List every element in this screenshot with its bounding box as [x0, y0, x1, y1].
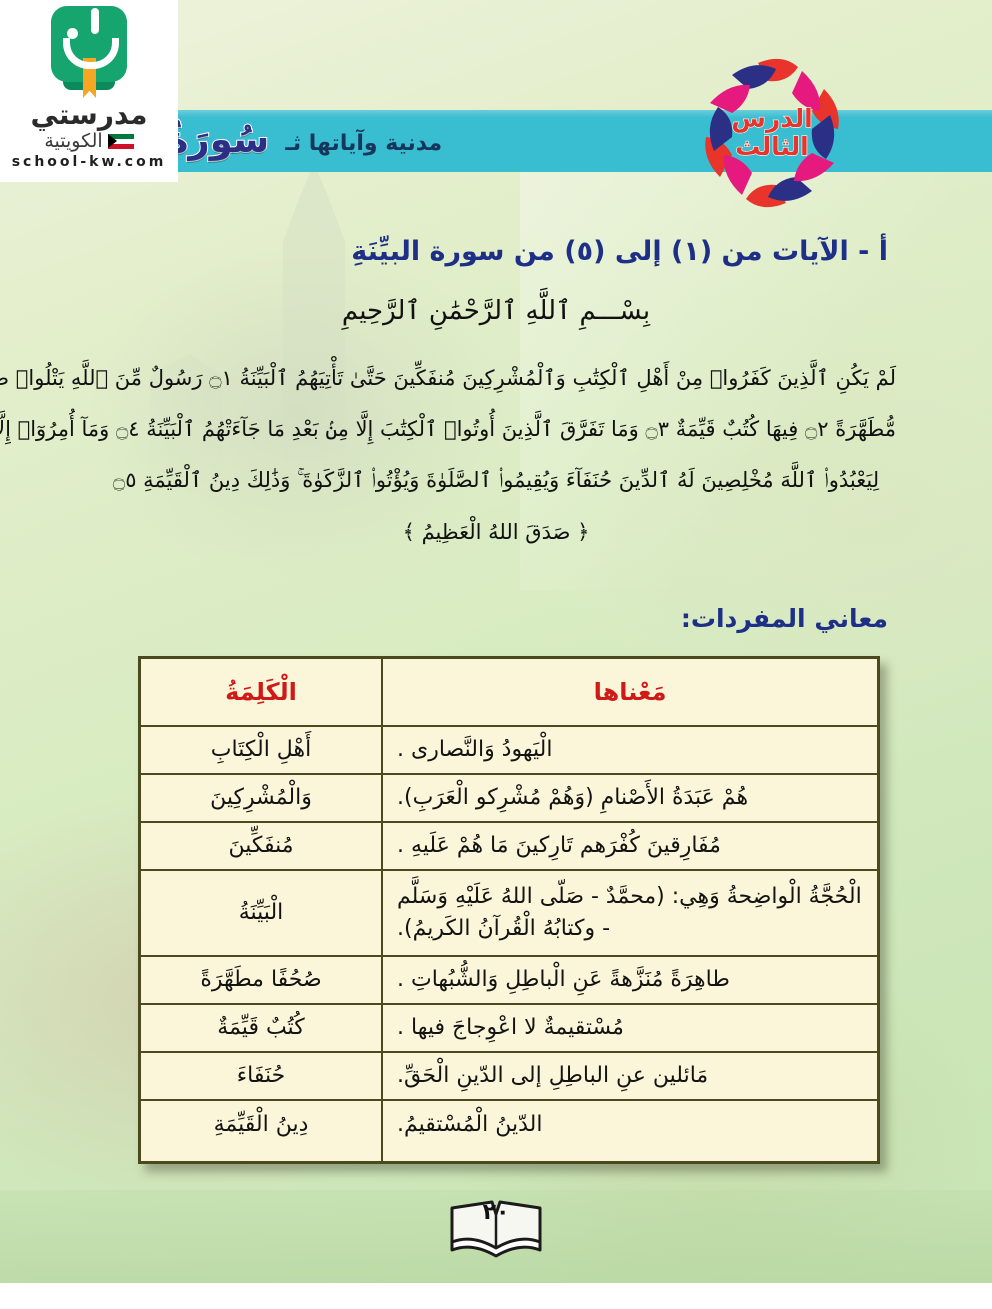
table-row: مُفَارِقينَ كُفْرَهم تَارِكينَ مَا هُمْ … [140, 822, 879, 870]
column-header-meaning: مَعْناها [382, 658, 879, 727]
vocabulary-table: مَعْناها الْكَلِمَةُ الْيَهودُ وَالنَّصا… [138, 656, 880, 1164]
cell-word: أَهْلِ الْكِتَابِ [140, 726, 383, 774]
table-row: مَائلين عنِ الباطِلِ إلى الدّينِ الْحَقِ… [140, 1052, 879, 1100]
cell-meaning: مُفَارِقينَ كُفْرَهم تَارِكينَ مَا هُمْ … [382, 822, 879, 870]
quran-passage: بِسْـــمِ ٱللَّهِ ٱلرَّحْمَٰنِ ٱلرَّحِيم… [0, 296, 992, 544]
table-row: هُمْ عَبَدَةُ الأَصْنامِ (وَهُمْ مُشْرِك… [140, 774, 879, 822]
watermark-brand-sub: الكويتية [44, 131, 133, 153]
cell-meaning: مُسْتقيمةٌ لا اعْوِجاجَ فيها . [382, 1004, 879, 1052]
page-number: ٢٠ [442, 1200, 550, 1225]
watermark-brand-sub-text: الكويتية [44, 131, 102, 153]
lesson-label-line2: الثالث [735, 133, 808, 161]
page-title: أ - الآيات من (١) إلى (٥) من سورة البيِّ… [351, 236, 888, 267]
table-row: الْيَهودُ وَالنَّصارى . أَهْلِ الْكِتَاب… [140, 726, 879, 774]
cell-meaning: الدّينُ الْمُسْتقيمُ. [382, 1100, 879, 1163]
page-footer: ٢٠ [0, 1198, 992, 1264]
lesson-badge: الدرس الثالث [672, 58, 872, 208]
ayah-line-2: مُّطَهَّرَةً ۝٢ فِيهَا كُتُبٌ قَيِّمَةٌ … [0, 404, 992, 455]
ayah-line-3: لِيَعْبُدُوا۟ ٱللَّهَ مُخْلِصِينَ لَهُ ٱ… [0, 455, 992, 506]
lesson-label-group: الدرس الثالث [672, 58, 872, 208]
cell-word: الْبَيِّنَةُ [140, 870, 383, 956]
cell-word: حُنَفَاءَ [140, 1052, 383, 1100]
site-watermark: مدرستي الكويتية school-kw.com [0, 0, 178, 182]
cell-word: كُتُبٌ قَيِّمَةٌ [140, 1004, 383, 1052]
table-row: الدّينُ الْمُسْتقيمُ. دِينُ الْقَيِّمَةِ [140, 1100, 879, 1163]
cell-word: صُحُفًا مطَهَّرَةً [140, 956, 383, 1004]
sadaqallah-line: ﴿ صَدَقَ اللهُ الْعَظِيمُ ﴾ [0, 520, 992, 544]
table-row: مُسْتقيمةٌ لا اعْوِجاجَ فيها . كُتُبٌ قَ… [140, 1004, 879, 1052]
column-header-word: الْكَلِمَةُ [140, 658, 383, 727]
basmala-line: بِسْـــمِ ٱللَّهِ ٱلرَّحْمَٰنِ ٱلرَّحِيم… [0, 296, 992, 327]
cell-word: وَالْمُشْرِكِينَ [140, 774, 383, 822]
watermark-domain: school-kw.com [12, 154, 167, 170]
table-row: الْحُجَّةُ الْواضِحةُ وَهِي: (محمَّدٌ - … [140, 870, 879, 956]
surah-subtitle: مدنية وآياتها ثـ [285, 131, 442, 156]
textbook-page: مدنية وآياتها ثـ سُورَةُ الْبَيِّنَةِ (أ… [0, 0, 992, 1309]
cell-meaning: مَائلين عنِ الباطِلِ إلى الدّينِ الْحَقِ… [382, 1052, 879, 1100]
page-number-badge: ٢٠ [442, 1198, 550, 1264]
cell-meaning: هُمْ عَبَدَةُ الأَصْنامِ (وَهُمْ مُشْرِك… [382, 774, 879, 822]
madrasati-logo-icon [43, 6, 135, 98]
lesson-label-line1: الدرس [731, 105, 812, 133]
vocabulary-heading: معاني المفردات: [681, 604, 888, 633]
kuwait-flag-icon [108, 134, 134, 149]
cell-word: دِينُ الْقَيِّمَةِ [140, 1100, 383, 1163]
cell-meaning: الْحُجَّةُ الْواضِحةُ وَهِي: (محمَّدٌ - … [382, 870, 879, 956]
table-header-row: مَعْناها الْكَلِمَةُ [140, 658, 879, 727]
cell-word: مُنفَكِّينَ [140, 822, 383, 870]
cell-meaning: طاهِرَةً مُنَزَّهةً عَنِ الْباطِلِ وَالش… [382, 956, 879, 1004]
cell-meaning: الْيَهودُ وَالنَّصارى . [382, 726, 879, 774]
vocabulary-table-wrapper: مَعْناها الْكَلِمَةُ الْيَهودُ وَالنَّصا… [138, 656, 880, 1164]
ayah-line-1: لَمْ يَكُنِ ٱلَّذِينَ كَفَرُوا۟ مِنْ أَه… [0, 353, 992, 404]
page-bottom-margin [0, 1283, 992, 1309]
table-row: طاهِرَةً مُنَزَّهةً عَنِ الْباطِلِ وَالش… [140, 956, 879, 1004]
watermark-brand: مدرستي [31, 100, 148, 131]
